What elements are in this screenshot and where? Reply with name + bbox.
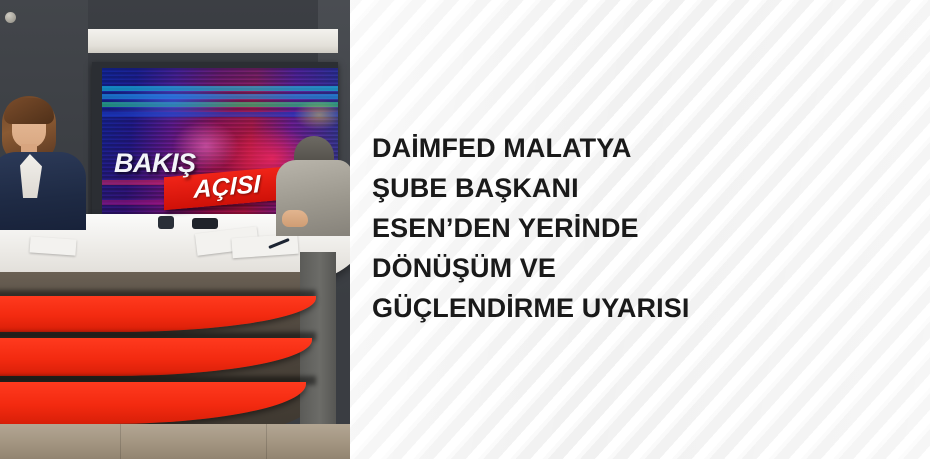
desk-device bbox=[158, 216, 174, 229]
video-wall-band bbox=[102, 112, 338, 117]
studio-desk-side-panel bbox=[300, 252, 336, 452]
studio-floor bbox=[0, 424, 350, 459]
desk-device bbox=[192, 218, 218, 229]
article-photo[interactable]: BAKIŞ AÇISI bbox=[0, 0, 350, 459]
headline-panel: DAİMFED MALATYA ŞUBE BAŞKANI ESEN’DEN YE… bbox=[350, 0, 930, 459]
presenter-blazer bbox=[0, 152, 86, 230]
ceiling-light-icon bbox=[5, 12, 16, 23]
headline-line-1: DAİMFED MALATYA bbox=[372, 128, 912, 168]
video-wall-band bbox=[102, 86, 338, 91]
guest-hand bbox=[282, 210, 308, 227]
video-wall-band bbox=[102, 102, 338, 107]
presenter-hair-front bbox=[4, 98, 54, 124]
headline-line-5: GÜÇLENDİRME UYARISI bbox=[372, 288, 912, 328]
desk-paper bbox=[29, 236, 76, 255]
video-wall-band bbox=[102, 94, 338, 99]
headline-line-3: ESEN’DEN YERİNDE bbox=[372, 208, 912, 248]
studio-trim-beam bbox=[88, 29, 338, 53]
headline-line-4: DÖNÜŞÜM VE bbox=[372, 248, 912, 288]
floor-seam bbox=[120, 424, 121, 459]
page-title: DAİMFED MALATYA ŞUBE BAŞKANI ESEN’DEN YE… bbox=[372, 128, 912, 328]
program-logo-bakis: BAKIŞ bbox=[114, 148, 196, 179]
tv-guest bbox=[276, 152, 350, 234]
news-article-card: BAKIŞ AÇISI bbox=[0, 0, 930, 459]
headline-line-2: ŞUBE BAŞKANI bbox=[372, 168, 912, 208]
tv-presenter bbox=[0, 96, 86, 226]
floor-seam bbox=[266, 424, 267, 459]
